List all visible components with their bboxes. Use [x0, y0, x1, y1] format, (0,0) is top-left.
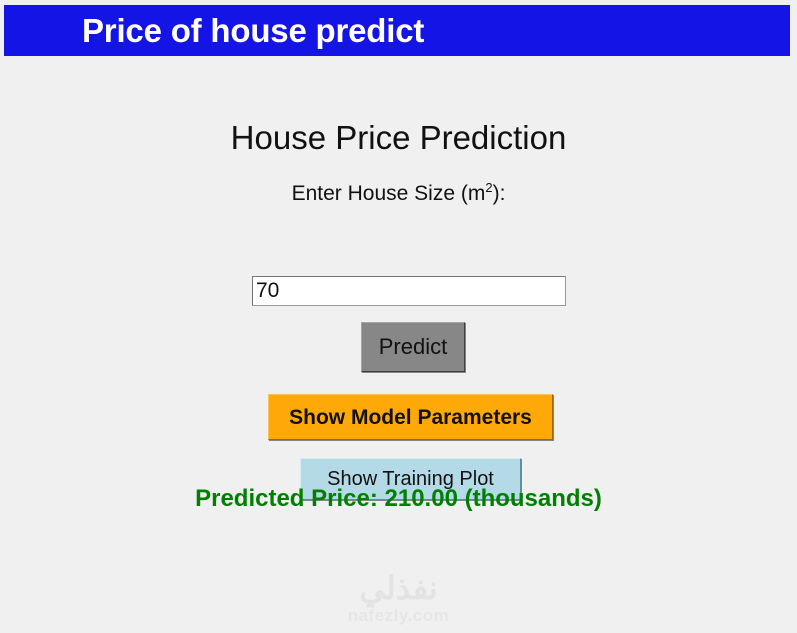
predicted-price-result: Predicted Price: 210.00 (thousands): [0, 487, 797, 511]
predict-button[interactable]: Predict: [361, 322, 465, 372]
show-model-parameters-button[interactable]: Show Model Parameters: [268, 394, 553, 440]
house-size-label-text: Enter House Size (m: [292, 182, 486, 205]
main-content: House Price Prediction Enter House Size …: [0, 56, 797, 633]
house-size-label: Enter House Size (m2):: [0, 183, 797, 204]
house-size-label-suffix: ):: [493, 182, 506, 205]
watermark-latin-text: nafezly.com: [0, 607, 797, 625]
page-title: House Price Prediction: [0, 121, 797, 154]
window-title-bar: Price of house predict: [4, 5, 790, 56]
watermark-arabic-text: نفذلي: [0, 572, 797, 606]
watermark: نفذلي nafezly.com: [0, 572, 797, 624]
house-size-input[interactable]: [252, 276, 566, 306]
window-title: Price of house predict: [82, 14, 424, 47]
square-meter-superscript: 2: [485, 180, 492, 195]
